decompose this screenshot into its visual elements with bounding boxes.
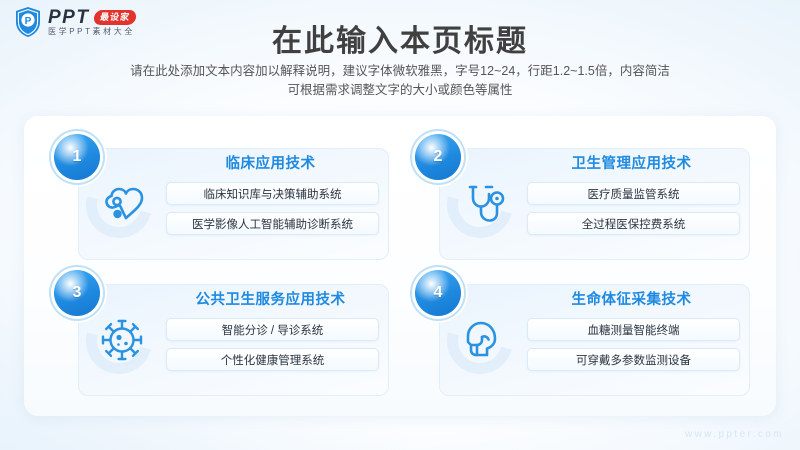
card-item[interactable]: 2 卫生管理应用技术 医疗质量监管系统 全过程医保控费系统 bbox=[407, 134, 754, 264]
cards-grid: 1 临床应用技术 临床知识库与决策辅助系统 医学影像人工智能辅助诊断系统 2 bbox=[24, 116, 776, 416]
logo-brand-text: PPT bbox=[48, 8, 89, 27]
stethoscope-icon bbox=[457, 178, 509, 230]
card-item-pill[interactable]: 个性化健康管理系统 bbox=[166, 348, 379, 371]
shield-icon: P bbox=[14, 6, 42, 38]
card-item-pill[interactable]: 可穿戴多参数监测设备 bbox=[527, 348, 740, 371]
logo-badge: 最设家 bbox=[93, 10, 137, 25]
svg-text:P: P bbox=[25, 16, 32, 27]
card-title: 卫生管理应用技术 bbox=[527, 152, 740, 173]
card-number-badge: 2 bbox=[415, 134, 461, 180]
virus-icon bbox=[96, 314, 148, 366]
card-item-pill[interactable]: 全过程医保控费系统 bbox=[527, 212, 740, 235]
slide-canvas: P PPT 最设家 医学PPT素材大全 在此输入本页标题 请在此处添加文本内容加… bbox=[0, 0, 800, 450]
card-item-pill[interactable]: 医学影像人工智能辅助诊断系统 bbox=[166, 212, 379, 235]
card-number-badge: 4 bbox=[415, 270, 461, 316]
card-title: 公共卫生服务应用技术 bbox=[166, 288, 379, 309]
card-item-pill[interactable]: 血糖测量智能终端 bbox=[527, 318, 740, 341]
card-item[interactable]: 4 生命体征采集技术 血糖测量智能终端 可穿戴多参数监测设备 bbox=[407, 270, 754, 400]
site-watermark: www.ppter.com bbox=[685, 429, 784, 440]
brand-logo: P PPT 最设家 医学PPT素材大全 bbox=[14, 6, 136, 38]
card-item-pill[interactable]: 医疗质量监管系统 bbox=[527, 182, 740, 205]
subtitle-line-1: 请在此处添加文本内容加以解释说明，建议字体微软雅黑，字号12~24，行距1.2~… bbox=[0, 62, 800, 81]
card-item-pill[interactable]: 临床知识库与决策辅助系统 bbox=[166, 182, 379, 205]
card-title: 生命体征采集技术 bbox=[527, 288, 740, 309]
card-number-badge: 3 bbox=[54, 270, 100, 316]
card-item[interactable]: 3 bbox=[46, 270, 393, 400]
head-anatomy-icon bbox=[457, 314, 509, 366]
subtitle-line-2: 可根据需求调整文字的大小或颜色等属性 bbox=[0, 81, 800, 100]
page-subtitle: 请在此处添加文本内容加以解释说明，建议字体微软雅黑，字号12~24，行距1.2~… bbox=[0, 62, 800, 101]
card-item[interactable]: 1 临床应用技术 临床知识库与决策辅助系统 医学影像人工智能辅助诊断系统 bbox=[46, 134, 393, 264]
card-item-pill[interactable]: 智能分诊 / 导诊系统 bbox=[166, 318, 379, 341]
logo-tagline: 医学PPT素材大全 bbox=[48, 28, 136, 36]
card-number-badge: 1 bbox=[54, 134, 100, 180]
card-title: 临床应用技术 bbox=[166, 152, 379, 173]
heart-stethoscope-icon bbox=[96, 178, 148, 230]
